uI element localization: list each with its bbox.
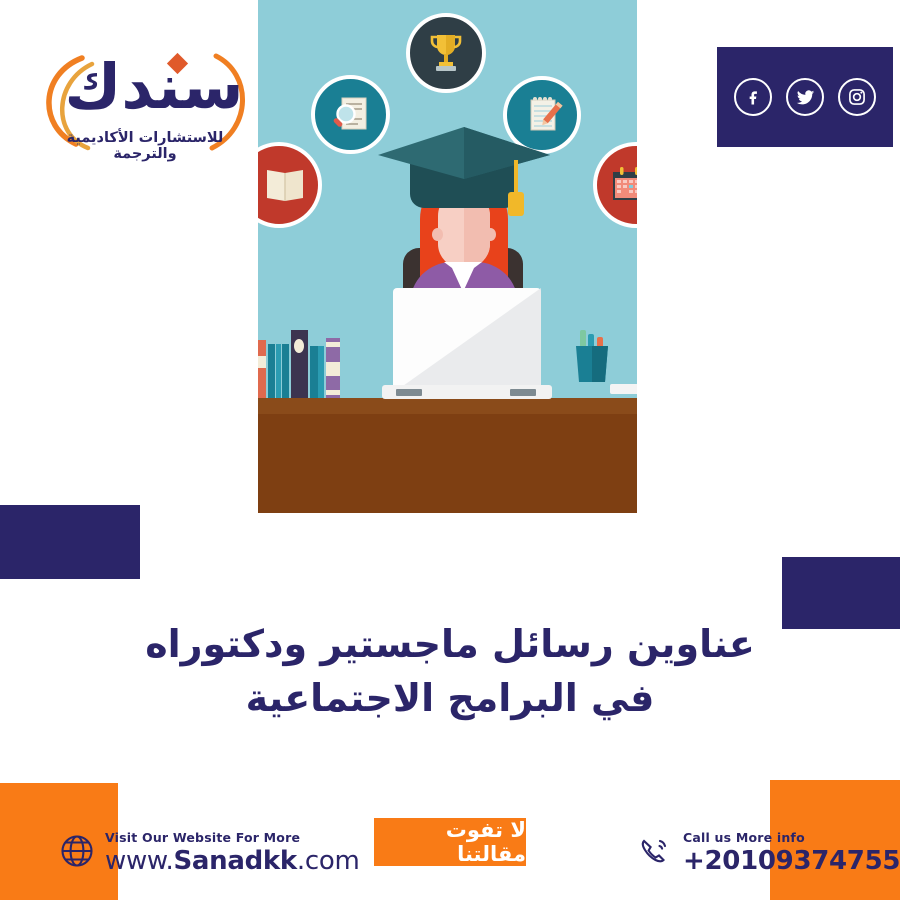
website-caption: Visit Our Website For More — [105, 832, 360, 845]
person-ear-left — [432, 228, 443, 241]
phone-contact-group[interactable]: Call us More info +201093747551 — [638, 832, 900, 874]
decor-navy-block-left — [0, 505, 140, 579]
bookshelf-stack — [258, 318, 346, 402]
trophy-badge — [406, 13, 486, 93]
phone-call-icon — [638, 834, 672, 872]
desk-paper — [610, 384, 637, 394]
book-badge — [258, 142, 322, 228]
hero-illustration — [258, 0, 637, 513]
headline-line-1: عناوين رسائل ماجستير ودكتوراه — [70, 618, 830, 672]
logo-wordmark: سندك — [56, 56, 252, 118]
desk-front — [258, 414, 637, 513]
cap-tassel — [508, 192, 524, 216]
social-links-panel — [717, 47, 893, 147]
laptop-highlight — [393, 288, 541, 393]
pen-holder — [574, 320, 614, 394]
cta-badge-label: لا تفوت مقالتنا — [374, 818, 526, 866]
graduation-cap-board — [376, 125, 552, 185]
facebook-icon[interactable] — [734, 78, 772, 116]
logo-tagline: للاستشارات الأكاديمية والترجمة — [40, 130, 250, 162]
poster-canvas: سندك للاستشارات الأكاديمية والترجمة — [0, 0, 900, 900]
brand-logo[interactable]: سندك للاستشارات الأكاديمية والترجمة — [30, 48, 255, 163]
website-url-suffix: .com — [297, 846, 360, 876]
instagram-icon[interactable] — [838, 78, 876, 116]
cta-badge[interactable]: لا تفوت مقالتنا — [374, 818, 526, 866]
laptop-feet — [382, 385, 552, 404]
headline-line-2: في البرامج الاجتماعية — [70, 672, 830, 726]
page-title: عناوين رسائل ماجستير ودكتوراه في البرامج… — [70, 618, 830, 726]
website-contact-group[interactable]: Visit Our Website For More www.Sanadkk.c… — [60, 832, 360, 874]
phone-caption: Call us More info — [683, 832, 900, 845]
website-url[interactable]: www.Sanadkk.com — [105, 848, 360, 874]
globe-icon — [60, 834, 94, 872]
twitter-icon[interactable] — [786, 78, 824, 116]
website-url-prefix: www. — [105, 846, 173, 876]
calendar-badge — [593, 142, 637, 228]
person-ear-right — [485, 228, 496, 241]
website-url-name: Sanadkk — [173, 846, 296, 876]
cap-tassel-cord — [514, 160, 518, 196]
phone-number[interactable]: +201093747551 — [683, 848, 900, 874]
